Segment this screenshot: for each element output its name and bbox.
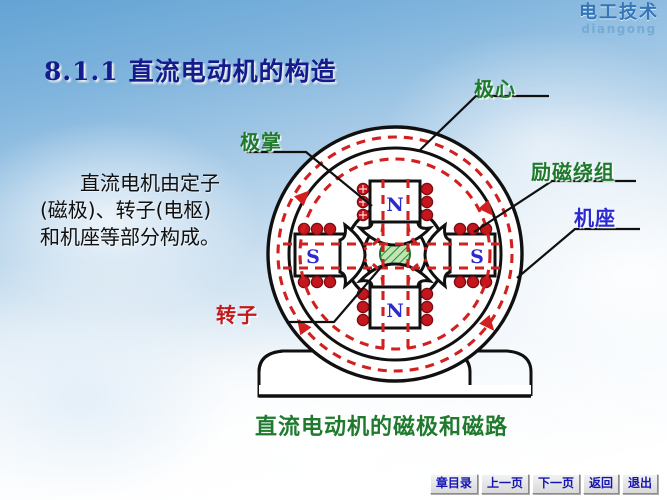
pole-shoe-right [425,225,450,286]
motor-base [259,351,470,396]
nav-button-back[interactable]: 返回 [583,474,619,494]
pole-shoe-bottom [360,264,430,287]
rotor-group [345,204,445,304]
nav-button-exit[interactable]: 退出 [622,474,658,494]
flux-arrow-top-right [484,205,490,212]
pole-core-bottom [370,283,420,328]
flux-rotor-arc-tl [364,223,383,249]
flux-rotor-arc-bl [364,260,383,286]
navigation-bar: 章目录 上一页 下一页 返回 退出 [430,474,658,494]
field-winding-right-top [454,223,491,234]
pole-top-group: N [357,181,432,245]
flux-rotor-arc-tr [408,223,427,249]
rotor-shaft [380,239,410,269]
rotor-inner-circle [364,223,426,285]
flux-path-group [278,137,512,371]
leader-pole-shoe [246,152,372,206]
background-blob [380,30,667,260]
pole-mark-bottom: N [386,300,403,322]
brand-logo-en: diangong [579,23,659,35]
flux-rotor-arc-br [408,260,427,286]
flux-loop-inner [300,159,490,349]
pole-bottom-group: N [357,264,432,328]
label-pole-shoe: 极掌 [240,126,282,155]
leader-pole-core [420,96,549,150]
flux-arrow-bottom-right [485,320,491,327]
field-winding-top-left [357,183,368,220]
pole-right-group: S [425,223,495,287]
page-title: 8.1.1直流电动机的构造 [44,52,337,88]
label-frame: 机座 [574,202,616,231]
pole-core-left [295,234,345,276]
page-title-text: 直流电动机的构造 [129,57,337,86]
frame-outer-circle [268,127,522,381]
page-title-number: 8.1.1 [44,57,119,86]
diagram-caption: 直流电动机的磁极和磁路 [255,409,508,441]
nav-button-next-page[interactable]: 下一页 [532,474,580,494]
nav-button-prev-page[interactable]: 上一页 [481,474,529,494]
motor-frame-group [259,127,531,396]
field-winding-bottom-right [421,288,432,325]
body-paragraph: 直流电机由定子(磁极)、转子(电枢)和机座等部分构成。 [40,170,226,252]
field-winding-right-bottom [454,276,491,287]
brand-logo-cn: 电工技术 [579,4,659,22]
leader-rotor [286,266,382,322]
label-pole-core: 极心 [474,73,516,102]
pole-shoe-left [340,225,365,286]
base-fill [259,385,531,396]
pole-core-right [445,234,495,276]
pole-mark-left: S [306,246,320,268]
label-rotor: 转子 [216,299,258,328]
nav-button-chapter-contents[interactable]: 章目录 [430,474,478,494]
field-winding-top-right [421,183,432,220]
motor-base-right [445,351,531,396]
rotor-outer-circle [345,204,445,304]
flux-arrow-group [300,194,491,330]
flux-arrow-top-left [300,194,306,200]
pole-shoe-top [360,222,430,245]
brand-logo: 电工技术 diangong [579,4,659,35]
label-field-winding: 励磁绕组 [531,156,615,185]
slide-canvas: 电工技术 diangong 8.1.1直流电动机的构造 直流电机由定子(磁极)、… [0,0,667,500]
motor-base-left [259,351,340,396]
frame-inner-circle [289,148,501,360]
field-winding-bottom-left [357,288,368,325]
leader-frame [517,229,640,278]
field-winding-left-bottom [298,276,335,287]
pole-core-top [370,181,420,226]
flux-arrow-bottom-left [300,323,305,330]
pole-left-group: S [295,223,365,287]
flux-loop-outer [278,137,512,371]
background-blob [0,300,230,500]
pole-mark-top: N [386,194,403,216]
field-winding-left-top [298,223,335,234]
pole-mark-right: S [470,246,484,268]
